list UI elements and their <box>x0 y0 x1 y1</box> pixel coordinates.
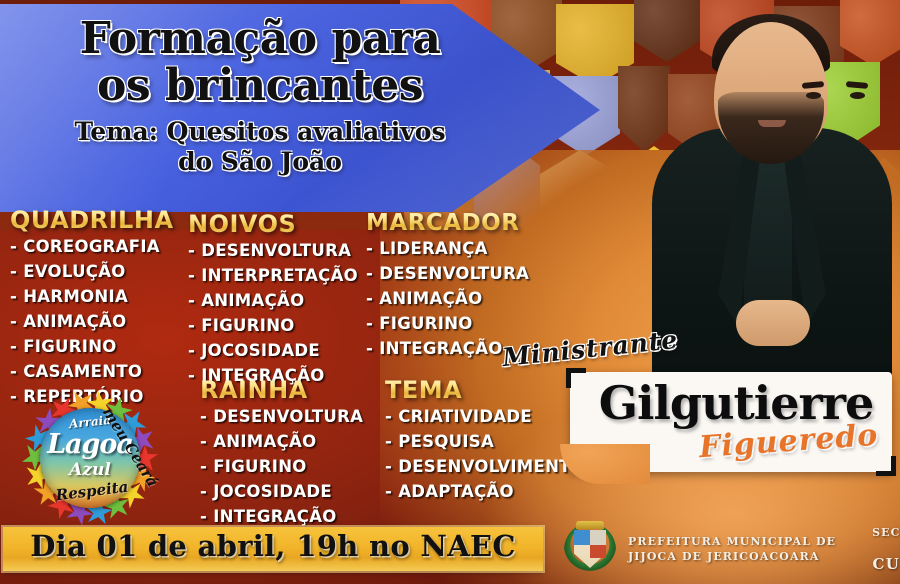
category-heading: MARCADOR <box>366 210 529 236</box>
criteria-item: - ANIMAÇÃO <box>188 288 358 313</box>
criteria-item: - INTERPRETAÇÃO <box>188 263 358 288</box>
presenter-photo <box>640 0 900 420</box>
corner-bracket-icon <box>876 456 896 476</box>
category-tema: TEMA - CRIATIVIDADE - PESQUISA - DESENVO… <box>385 376 585 504</box>
category-heading: NOIVOS <box>188 210 358 238</box>
criteria-item: - ANIMAÇÃO <box>366 286 529 311</box>
prefeitura-text: PREFEITURA MUNICIPAL DE JIJOCA DE JERICO… <box>628 535 836 565</box>
criteria-item: - ANIMAÇÃO <box>10 309 174 334</box>
event-poster: Formação para os brincantes Tema: Quesit… <box>0 0 900 584</box>
category-rainha: RAINHA - DESENVOLTURA - ANIMAÇÃO - FIGUR… <box>200 376 363 529</box>
subtitle-line-2: do São João <box>0 148 520 177</box>
category-quadrilha: QUADRILHA - COREOGRAFIA - EVOLUÇÃO - HAR… <box>10 206 174 410</box>
arraia-lagoa-azul-logo: Arraiá Lagoa Azul Respeita meu Ceará <box>14 386 166 534</box>
title-line-1: Formação para <box>0 16 520 63</box>
criteria-item: - JOCOSIDADE <box>188 338 358 363</box>
criteria-item: - HARMONIA <box>10 284 174 309</box>
secretaria-line-2: CULTURA <box>872 555 900 575</box>
criteria-item: - PESQUISA <box>385 429 585 454</box>
title-line-2: os brincantes <box>0 63 520 110</box>
mouth-shape <box>758 120 786 127</box>
criteria-item: - DESENVOLTURA <box>366 261 529 286</box>
city-coat-of-arms-icon <box>562 521 618 579</box>
category-heading: QUADRILHA <box>10 206 174 234</box>
criteria-item: - CRIATIVIDADE <box>385 404 585 429</box>
criteria-item: - DESENVOLTURA <box>188 238 358 263</box>
criteria-item: - DESENVOLTURA <box>200 404 363 429</box>
criteria-item: - DESENVOLVIMENTO <box>385 454 585 479</box>
criteria-item: - INTEGRAÇÃO <box>200 504 363 529</box>
title-block: Formação para os brincantes Tema: Quesit… <box>0 16 520 177</box>
criteria-item: - CASAMENTO <box>10 359 174 384</box>
footer-institutions: PREFEITURA MUNICIPAL DE JIJOCA DE JERICO… <box>556 516 900 584</box>
criteria-item: - EVOLUÇÃO <box>10 259 174 284</box>
category-noivos: NOIVOS - DESENVOLTURA - INTERPRETAÇÃO - … <box>188 210 358 388</box>
event-info-text: Dia 01 de abril, 19h no NAEC <box>3 529 543 563</box>
criteria-item: - COREOGRAFIA <box>10 234 174 259</box>
event-info-banner: Dia 01 de abril, 19h no NAEC <box>3 527 543 571</box>
criteria-item: - FIGURINO <box>10 334 174 359</box>
category-marcador: MARCADOR - LIDERANÇA - DESENVOLTURA - AN… <box>366 210 529 361</box>
category-heading: TEMA <box>385 376 585 404</box>
criteria-item: - ANIMAÇÃO <box>200 429 363 454</box>
criteria-item: - FIGURINO <box>366 311 529 336</box>
prefeitura-line-2: JIJOCA DE JERICOACOARA <box>628 550 836 565</box>
criteria-item: - FIGURINO <box>188 313 358 338</box>
secretaria-text: SECRETARIA DE CULTURA <box>872 526 900 574</box>
criteria-item: - ADAPTAÇÃO <box>385 479 585 504</box>
category-heading: RAINHA <box>200 376 363 404</box>
criteria-item: - JOCOSIDADE <box>200 479 363 504</box>
criteria-item: - FIGURINO <box>200 454 363 479</box>
prefeitura-line-1: PREFEITURA MUNICIPAL DE <box>628 535 836 550</box>
hands-shape <box>736 300 810 346</box>
secretaria-line-1: SECRETARIA DE <box>872 526 900 555</box>
subtitle-line-1: Tema: Quesitos avaliativos <box>0 118 520 147</box>
criteria-item: - LIDERANÇA <box>366 236 529 261</box>
